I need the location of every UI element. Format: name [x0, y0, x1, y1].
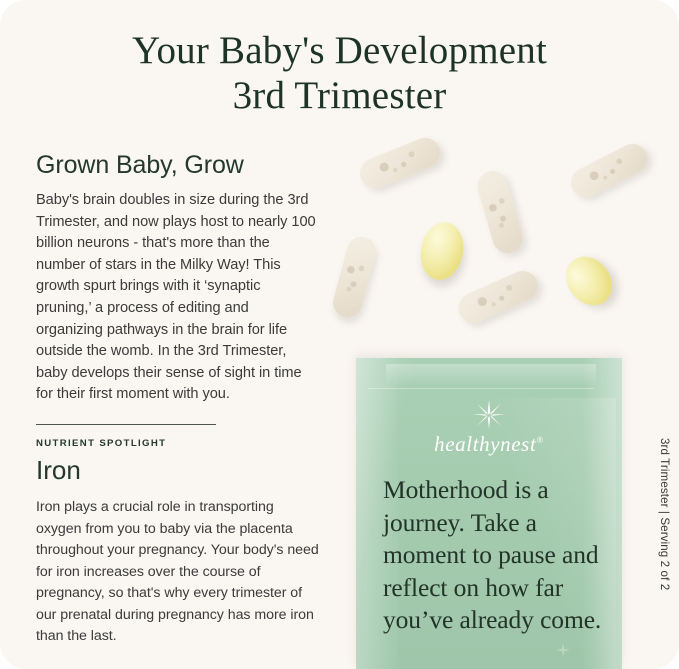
- nutrient-spotlight-section: NUTRIENT SPOTLIGHT Iron Iron plays a cru…: [36, 438, 321, 648]
- brand-lockup: healthynest®: [356, 400, 622, 457]
- packet-quote-text: Motherhood is a journey. Take a moment t…: [383, 474, 607, 637]
- softgel-capsule: [416, 219, 467, 283]
- tablet-pill: [355, 133, 444, 192]
- small-sparkle-icon: [556, 643, 570, 657]
- section-divider: [36, 424, 216, 425]
- packet-highlight-top: [386, 364, 596, 386]
- brand-name: healthynest®: [434, 432, 544, 456]
- tablet-pill: [454, 266, 543, 328]
- page-title-line-1: Your Baby's Development: [0, 28, 679, 73]
- tablet-pill: [566, 139, 652, 202]
- section-heading: Grown Baby, Grow: [36, 150, 318, 180]
- tablet-pill: [330, 234, 379, 321]
- nutrient-spotlight-eyebrow: NUTRIENT SPOTLIGHT: [36, 438, 321, 449]
- supplement-pills-illustration: [330, 140, 670, 355]
- brand-trademark: ®: [536, 435, 543, 445]
- section-body-text: Baby's brain doubles in size during the …: [36, 190, 318, 406]
- nutrient-body-text: Iron plays a crucial role in transportin…: [36, 497, 321, 648]
- page-title-line-2: 3rd Trimester: [0, 73, 679, 118]
- brand-name-text: healthynest: [434, 432, 536, 456]
- page-title: Your Baby's Development 3rd Trimester: [0, 28, 679, 118]
- softgel-capsule: [556, 248, 621, 315]
- supplement-packet: healthynest® Motherhood is a journey. Ta…: [356, 358, 622, 669]
- development-section: Grown Baby, Grow Baby's brain doubles in…: [36, 150, 318, 406]
- product-info-card: Your Baby's Development 3rd Trimester Gr…: [0, 0, 679, 669]
- starburst-sparkle-icon: [472, 400, 506, 430]
- serving-side-label: 3rd Trimester | Serving 2 of 2: [653, 438, 671, 658]
- packet-seal-seam: [368, 388, 594, 389]
- tablet-pill: [474, 167, 526, 256]
- nutrient-name-heading: Iron: [36, 455, 321, 485]
